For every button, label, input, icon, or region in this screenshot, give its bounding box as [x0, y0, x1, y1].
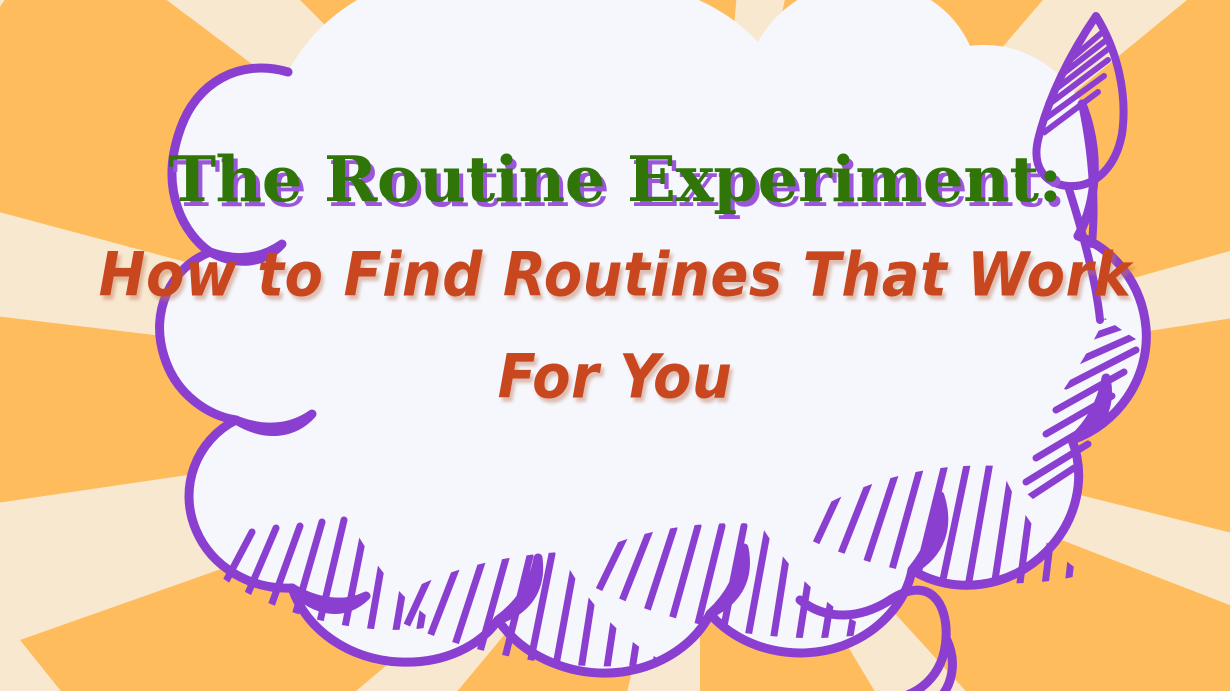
speech-cloud-graphic	[0, 0, 1230, 691]
poster-canvas: The Routine Experiment: How to Find Rout…	[0, 0, 1230, 691]
